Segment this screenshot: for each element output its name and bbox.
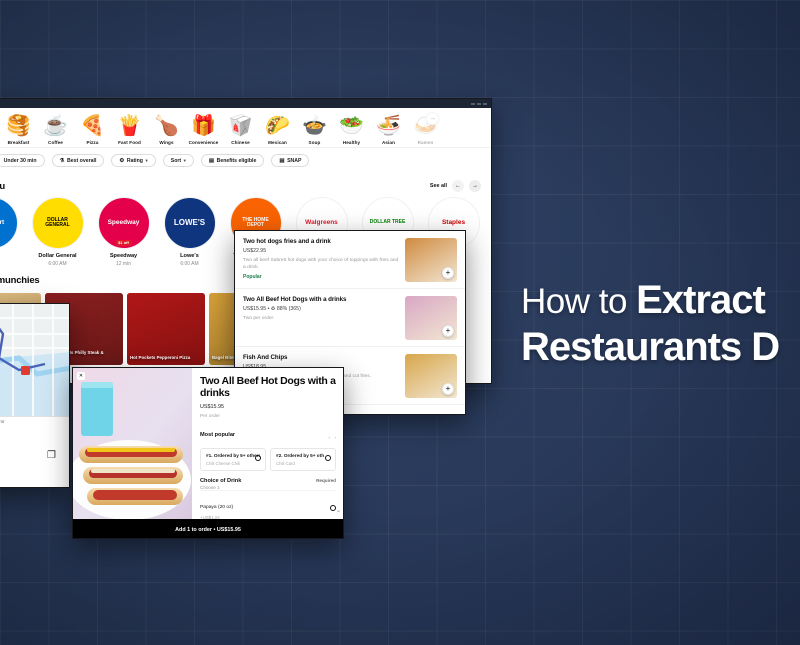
popular-next-button[interactable]: ›: [334, 435, 336, 440]
category-carousel[interactable]: 🍌Grocery🥞Breakfast☕Coffee🍕Pizza🍟Fast Foo…: [0, 108, 491, 147]
menu-item-name: Two All Beef Hot Dogs with a drinks: [243, 296, 399, 303]
category-label: Chinese: [231, 140, 250, 145]
most-popular-title: Most popular: [200, 432, 235, 438]
window-control-close[interactable]: [483, 103, 487, 105]
drink-option-price: +US$1.24: [200, 515, 233, 519]
item-detail-subtitle: Per order: [200, 414, 336, 419]
menu-item-name: Fish And Chips: [243, 354, 399, 361]
popular-option-title: #2. Ordered by 5+ oth: [276, 453, 330, 458]
drink-option-row[interactable]: Papaya (20 oz)+US$1.24: [200, 490, 336, 519]
store-logo: LOWE'S: [164, 197, 216, 249]
scroll-down-icon[interactable]: ⌄: [336, 507, 341, 514]
store-card[interactable]: WalmartM: [0, 197, 22, 267]
store-card[interactable]: DOLLAR GENERALDollar General6:00 AM: [27, 197, 88, 267]
category-label: Fast Food: [118, 140, 141, 145]
headline-line-1-thin: How to: [521, 282, 636, 321]
menu-item-tag: Popular: [243, 274, 399, 280]
map-window[interactable]: Report a map error ❐ ⌄: [0, 303, 70, 488]
product-name: Hot Pockets Pepperoni Pizza: [130, 355, 202, 360]
filter-pill-snap[interactable]: ▤SNAP: [271, 154, 309, 167]
item-detail-window[interactable]: ✕: [72, 367, 344, 539]
filter-label: Rating: [127, 158, 143, 164]
popular-option-title: #1. Ordered by 5+ others: [206, 453, 260, 458]
popular-option-card[interactable]: #1. Ordered by 5+ othersChili Cheese Chi…: [200, 448, 266, 471]
filter-pill-under-30-min[interactable]: Under 30 min: [0, 154, 45, 167]
page-title: How to Extract Restaurants D: [521, 278, 800, 370]
store-meta: 6:00 AM: [27, 261, 88, 267]
report-map-error-link[interactable]: Report a map error: [0, 419, 4, 424]
headline-line-1: How to Extract: [521, 278, 800, 323]
category-label: Breakfast: [8, 140, 30, 145]
menu-item-price: US$15.95 • ♻ 88% (365): [243, 306, 399, 312]
pancakes-icon: 🥞: [6, 116, 31, 137]
store-name: Speedway: [93, 253, 154, 259]
coffee-icon: ☕: [43, 116, 68, 137]
category-item-breakfast[interactable]: 🥞Breakfast: [0, 116, 37, 145]
fries-icon: 🍟: [117, 116, 142, 137]
store-meta: M: [0, 255, 22, 261]
map-panel-body: ❐ ⌄: [0, 426, 69, 488]
drink-required-badge: Required: [316, 478, 336, 483]
takeout-box-icon: 🥡: [228, 116, 253, 137]
category-label: Wings: [159, 140, 173, 145]
window-control-maximize[interactable]: [477, 103, 481, 105]
carousel-prev-button[interactable]: ←: [452, 180, 464, 192]
menu-item-name: Two hot dogs fries and a drink: [243, 238, 399, 245]
store-logo: DOLLAR GENERAL: [32, 197, 84, 249]
add-item-button[interactable]: +: [442, 267, 454, 279]
category-label: Ramen: [418, 140, 434, 145]
category-item-pizza[interactable]: 🍕Pizza: [74, 116, 111, 145]
window-control-minimize[interactable]: [471, 103, 475, 105]
filter-pill-benefits-eligible[interactable]: ▤Benefits eligible: [201, 154, 264, 167]
store-meta: 12 min: [93, 261, 154, 267]
popular-option-subtitle: Chili Card: [276, 461, 330, 466]
carousel-next-button[interactable]: →: [469, 180, 481, 192]
category-label: Pizza: [87, 140, 99, 145]
store-logo: Walmart: [0, 197, 18, 249]
filter-icon: ▤: [279, 158, 284, 164]
menu-item-description: Two all beef Sabrett hot dogs with your …: [243, 257, 399, 271]
product-image: [127, 293, 205, 365]
filter-label: Under 30 min: [4, 158, 37, 164]
chevron-down-icon: ▾: [145, 158, 147, 164]
close-icon[interactable]: ✕: [77, 372, 85, 380]
headline-line-2: Restaurants D: [521, 325, 800, 370]
category-item-convenience[interactable]: 🎁Convenience: [185, 116, 222, 145]
category-item-healthy[interactable]: 🥗Healthy: [333, 116, 370, 145]
add-item-button[interactable]: +: [442, 325, 454, 337]
category-label: Healthy: [343, 140, 360, 145]
category-item-chinese[interactable]: 🥡Chinese: [222, 116, 259, 145]
chicken-leg-icon: 🍗: [154, 116, 179, 137]
stores-section-header: near you See all ← →: [0, 174, 491, 195]
category-item-asian[interactable]: 🍜Asian: [370, 116, 407, 145]
store-name: Lowe's: [159, 253, 220, 259]
radio-button[interactable]: [255, 455, 261, 461]
filter-pill-sort[interactable]: Sort▾: [163, 154, 194, 167]
stores-section-title: near you: [0, 181, 5, 192]
chevron-down-icon: ▾: [184, 158, 186, 164]
noodle-bowl-icon: 🍜: [376, 116, 401, 137]
menu-item-price: US$22.95: [243, 248, 399, 254]
item-detail-price: US$15.95: [200, 404, 336, 410]
filter-label: SNAP: [287, 158, 301, 164]
menu-item-description: Two per order.: [243, 315, 399, 322]
headline-line-1-bold: Extract: [636, 278, 765, 322]
category-label: Asian: [382, 140, 395, 145]
store-card[interactable]: LOWE'SLowe's6:00 AM: [159, 197, 220, 267]
filter-icon: ⚙: [119, 158, 124, 164]
taco-icon: 🌮: [265, 116, 290, 137]
category-next-arrow-icon[interactable]: →: [426, 112, 439, 125]
drink-option-name: Papaya (20 oz): [200, 505, 233, 510]
category-item-ramen[interactable]: 🍛Ramen→: [407, 116, 444, 145]
add-item-button[interactable]: +: [442, 383, 454, 395]
filter-label: Benefits eligible: [217, 158, 257, 164]
browser-top-bar: [0, 99, 491, 108]
soup-bowl-icon: 🍲: [302, 116, 327, 137]
store-name: Dollar General: [27, 253, 88, 259]
filter-label: Sort: [171, 158, 181, 164]
see-all-link[interactable]: See all: [430, 183, 447, 189]
filter-pill-best-overall[interactable]: ⚗Best overall: [52, 154, 105, 167]
category-label: Coffee: [48, 140, 63, 145]
category-label: Mexican: [268, 140, 287, 145]
category-item-fast-food[interactable]: 🍟Fast Food: [111, 116, 148, 145]
map-canvas[interactable]: [0, 304, 69, 416]
item-detail-image: ✕: [73, 368, 192, 519]
store-meta: 6:00 AM: [159, 261, 220, 267]
menu-item-thumbnail: +: [405, 238, 457, 282]
drink-group-title: Choice of Drink: [200, 478, 241, 484]
filter-pill-rating[interactable]: ⚙Rating▾: [111, 154, 155, 167]
shopping-bag-icon: 🎁: [191, 116, 216, 137]
menu-item-thumbnail: +: [405, 354, 457, 398]
item-detail-info: Two All Beef Hot Dogs with a drinks US$1…: [192, 368, 343, 519]
filter-label: Best overall: [67, 158, 96, 164]
most-popular-header: Most popular ‹ ›: [200, 426, 336, 444]
category-item-soup[interactable]: 🍲Soup: [296, 116, 333, 145]
most-popular-carousel[interactable]: #1. Ordered by 5+ othersChili Cheese Chi…: [200, 448, 336, 471]
store-logo: Speedway$1 off: [98, 197, 150, 249]
map-footer: Report a map error: [0, 416, 69, 426]
item-detail-title: Two All Beef Hot Dogs with a drinks: [200, 376, 336, 400]
store-card[interactable]: Speedway$1 offSpeedway12 min: [93, 197, 154, 267]
salad-icon: 🥗: [339, 116, 364, 137]
map-graphic: [0, 304, 69, 416]
add-to-order-button[interactable]: Add 1 to order • US$15.95: [73, 519, 343, 539]
category-label: Soup: [309, 140, 321, 145]
hotdog-photo: [73, 368, 192, 519]
pizza-icon: 🍕: [80, 116, 105, 137]
category-item-coffee[interactable]: ☕Coffee: [37, 116, 74, 145]
filter-icon: ⚗: [60, 158, 65, 164]
category-label: Convenience: [189, 140, 219, 145]
popular-option-subtitle: Chili Cheese Chili: [206, 461, 260, 466]
drink-group-header: Choice of Drink Required: [200, 478, 336, 484]
drink-option-list[interactable]: Papaya (20 oz)+US$1.24Fruit Punch (20 oz…: [200, 490, 336, 519]
filter-icon: ▤: [209, 158, 214, 164]
category-item-wings[interactable]: 🍗Wings: [148, 116, 185, 145]
filter-bar[interactable]: e▾Under 30 min⚗Best overall⚙Rating▾Sort▾…: [0, 147, 491, 174]
menu-item-row[interactable]: Two hot dogs fries and a drinkUS$22.95Tw…: [235, 231, 465, 289]
menu-item-row[interactable]: Two All Beef Hot Dogs with a drinksUS$15…: [235, 289, 465, 347]
copy-icon[interactable]: ❐: [47, 450, 56, 461]
popular-option-card[interactable]: #2. Ordered by 5+ othChili Card: [270, 448, 336, 471]
popular-prev-button[interactable]: ‹: [328, 435, 330, 440]
category-item-mexican[interactable]: 🌮Mexican: [259, 116, 296, 145]
menu-item-thumbnail: +: [405, 296, 457, 340]
product-card[interactable]: Hot Pockets Pepperoni Pizza: [127, 293, 205, 365]
radio-button[interactable]: [325, 455, 331, 461]
store-badge: $1 off: [115, 240, 132, 246]
